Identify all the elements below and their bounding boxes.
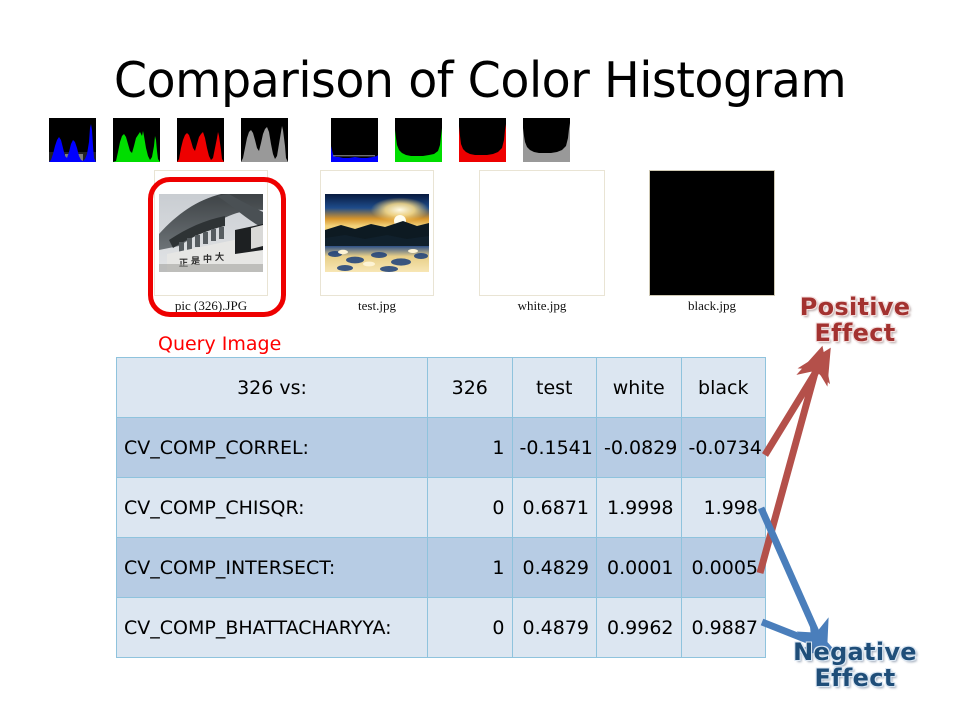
- table-header-cell-326: 326: [428, 358, 513, 418]
- arrow-negative-chisqr: [761, 508, 820, 641]
- row-value-326: 1: [428, 538, 513, 598]
- table-row: CV_COMP_INTERSECT: 1 0.4829 0.0001 0.000…: [117, 538, 766, 598]
- row-value-test: 0.4829: [512, 538, 597, 598]
- row-value-black: 1.998: [681, 478, 766, 538]
- row-method-label: CV_COMP_CORREL:: [117, 418, 428, 478]
- row-value-test: -0.1541: [512, 418, 597, 478]
- query-image-label: Query Image: [158, 333, 281, 355]
- row-value-white: 0.9962: [597, 598, 682, 658]
- comparison-table: 326 vs: 326 test white black CV_COMP_COR…: [116, 357, 766, 658]
- histogram-thumb-326-red: [177, 118, 224, 162]
- histogram-thumb-test-blue: [331, 118, 378, 162]
- thumbnail-item[interactable]: white.jpg: [479, 170, 605, 320]
- thumbnail-caption: black.jpg: [649, 298, 775, 314]
- row-value-black: 0.0005: [681, 538, 766, 598]
- thumbnail-frame: [479, 170, 605, 296]
- row-method-label: CV_COMP_BHATTACHARYYA:: [117, 598, 428, 658]
- table-row: CV_COMP_CORREL: 1 -0.1541 -0.0829 -0.073…: [117, 418, 766, 478]
- row-value-326: 0: [428, 598, 513, 658]
- row-value-white: 1.9998: [597, 478, 682, 538]
- table-header-cell-method: 326 vs:: [117, 358, 428, 418]
- page-title: Comparison of Color Histogram: [14, 52, 945, 109]
- table-row: CV_COMP_BHATTACHARYYA: 0 0.4879 0.9962 0…: [117, 598, 766, 658]
- thumbnail-image-sunset: [325, 194, 429, 272]
- row-method-label: CV_COMP_CHISQR:: [117, 478, 428, 538]
- row-value-test: 0.4879: [512, 598, 597, 658]
- row-value-test: 0.6871: [512, 478, 597, 538]
- arrow-positive-correl: [765, 362, 822, 455]
- svg-text:中: 中: [203, 253, 212, 265]
- thumbnail-caption: test.jpg: [320, 298, 434, 314]
- thumbnail-item[interactable]: test.jpg: [320, 170, 434, 320]
- row-value-white: 0.0001: [597, 538, 682, 598]
- slide-canvas: Comparison of Color Histogram: [0, 0, 960, 720]
- table-header-cell-black: black: [681, 358, 766, 418]
- row-value-black: 0.9887: [681, 598, 766, 658]
- thumbnail-item[interactable]: black.jpg: [649, 170, 775, 320]
- histogram-thumb-326-gray: [241, 118, 288, 162]
- table-header-row: 326 vs: 326 test white black: [117, 358, 766, 418]
- histogram-thumb-test-green: [395, 118, 442, 162]
- thumbnail-image-white: [480, 171, 604, 295]
- row-value-326: 1: [428, 418, 513, 478]
- histogram-strip: [0, 118, 960, 166]
- histogram-thumb-326-blue: [49, 118, 96, 162]
- histogram-thumb-test-gray: [523, 118, 570, 162]
- thumbnail-image-black: [650, 171, 774, 295]
- thumbnail-frame: [320, 170, 434, 296]
- table-header-cell-test: test: [512, 358, 597, 418]
- positive-effect-callout: Positive Effect: [760, 295, 950, 346]
- negative-effect-callout: Negative Effect: [760, 640, 950, 691]
- row-value-326: 0: [428, 478, 513, 538]
- thumbnail-frame: [649, 170, 775, 296]
- row-method-label: CV_COMP_INTERSECT:: [117, 538, 428, 598]
- thumbnail-item[interactable]: 正是中大 pic (326).JPG: [154, 170, 268, 320]
- table-row: CV_COMP_CHISQR: 0 0.6871 1.9998 1.998: [117, 478, 766, 538]
- table-header-cell-white: white: [597, 358, 682, 418]
- svg-text:大: 大: [215, 251, 224, 263]
- thumbnail-image-gate: 正是中大: [159, 194, 263, 272]
- row-value-white: -0.0829: [597, 418, 682, 478]
- thumbnail-frame: 正是中大: [154, 170, 268, 296]
- histogram-thumb-test-red: [459, 118, 506, 162]
- thumbnail-caption: pic (326).JPG: [154, 298, 268, 314]
- row-value-black: -0.0734: [681, 418, 766, 478]
- histogram-thumb-326-green: [113, 118, 160, 162]
- arrow-positive-intersect: [760, 362, 818, 573]
- thumbnail-caption: white.jpg: [479, 298, 605, 314]
